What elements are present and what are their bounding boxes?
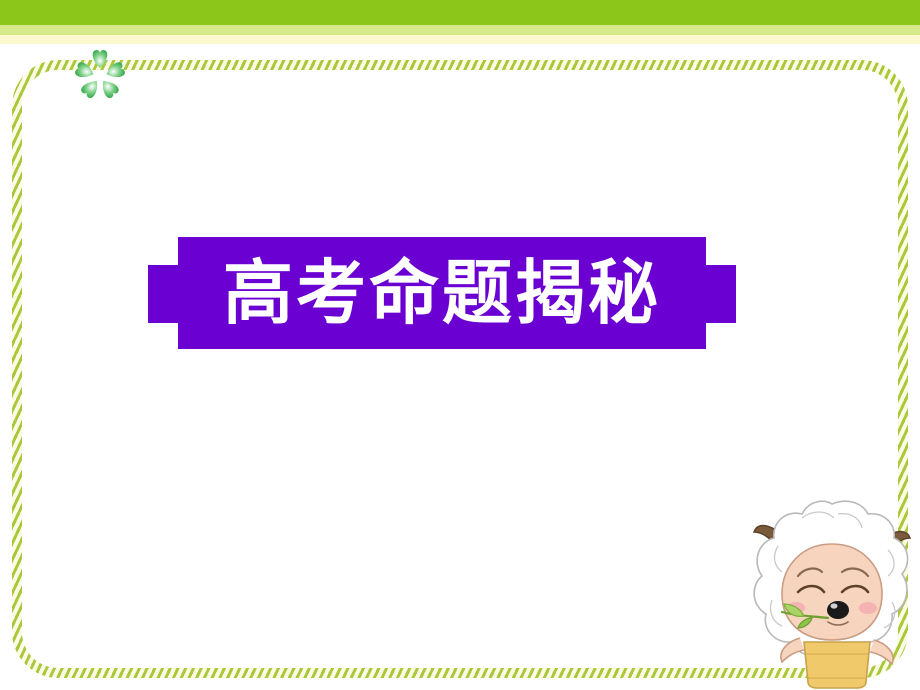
- banner-tab-left: [148, 265, 180, 323]
- presentation-slide: 高考命题揭秘: [0, 0, 920, 690]
- page-title: 高考命题揭秘: [178, 237, 706, 349]
- top-band-cream: [0, 35, 920, 44]
- title-banner: 高考命题揭秘: [148, 237, 736, 349]
- sheep-mascot: [742, 492, 920, 690]
- top-band-lime: [0, 25, 920, 35]
- top-band-green: [0, 0, 920, 25]
- clover-icon: [72, 44, 128, 102]
- banner-tab-right: [704, 265, 736, 323]
